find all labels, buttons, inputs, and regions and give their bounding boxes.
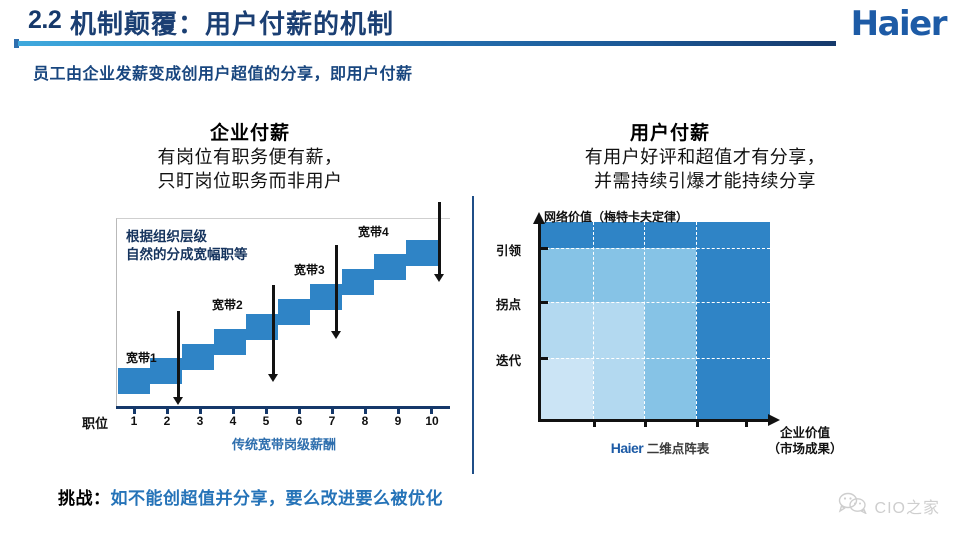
x-tick-label: 3 <box>193 414 207 428</box>
slide-header: 2.2 机制颠覆：用户付薪的机制 Haier <box>0 0 960 52</box>
right-desc-line-2: 并需持续引爆才能持续分享 <box>520 170 890 194</box>
x-tick-label: 6 <box>292 414 306 428</box>
left-chart-note: 根据组织层级 自然的分成宽幅职等 <box>126 228 248 264</box>
x-tick-label: 10 <box>422 414 442 428</box>
left-column-title: 企业付薪 <box>140 118 360 145</box>
x-tick-label: 8 <box>358 414 372 428</box>
slide-subtitle: 员工由企业发薪变成创用户超值的分享，即用户付薪 <box>33 60 413 84</box>
band-separator-line <box>272 285 275 374</box>
page-title: 机制颠覆：用户付薪的机制 <box>70 4 394 41</box>
right-chart-x-axis-title: 企业价值 （市场成果） <box>750 426 860 457</box>
traditional-salary-chart: 根据组织层级 自然的分成宽幅职等 宽带1 宽带2 宽带3 宽带4 1 2 3 4… <box>104 218 450 440</box>
challenge-statement: 挑战：如不能创超值并分享，要么改进要么被优化 <box>58 484 443 509</box>
x-tick-label: 1 <box>127 414 141 428</box>
right-chart-y-axis-title: 网络价值（梅特卡夫定律） <box>544 208 688 225</box>
left-chart-caption: 传统宽带岗级薪酬 <box>174 434 394 453</box>
right-chart-x-axis <box>538 419 770 422</box>
band-separator-line <box>335 245 338 331</box>
haier-matrix-chart: 网络价值（梅特卡夫定律） 企业价值 （市场成果） 引领 拐点 迭代 Haier … <box>500 210 940 460</box>
title-divider-rule <box>18 41 836 46</box>
x-tick-label: 2 <box>160 414 174 428</box>
matrix-gridline-vertical <box>644 222 645 419</box>
band-label: 宽带2 <box>212 296 243 313</box>
y-tick-label: 迭代 <box>496 350 536 369</box>
y-tick <box>541 247 548 250</box>
left-chart-y-axis-label: 职位 <box>82 413 108 432</box>
wechat-icon <box>838 492 868 519</box>
band-separator-arrow <box>434 274 444 282</box>
caption-text: 二维点阵表 <box>647 442 710 456</box>
staircase-step <box>278 299 310 325</box>
staircase-step <box>214 329 246 355</box>
band-separator-arrow <box>331 331 341 339</box>
matrix-cell-lightest <box>541 358 593 419</box>
column-divider <box>472 196 474 474</box>
right-desc-line-1: 有用户好评和超值才有分享， <box>520 146 890 170</box>
band-separator-arrow <box>268 374 278 382</box>
staircase-step <box>406 240 440 266</box>
band-separator-arrow <box>173 397 183 405</box>
watermark-text: CIO之家 <box>875 494 940 518</box>
x-tick <box>745 422 748 427</box>
x-tick <box>644 422 647 427</box>
matrix-gridline-vertical <box>696 222 697 419</box>
y-tick <box>541 357 548 360</box>
right-chart-caption: Haier 二维点阵表 <box>560 438 760 457</box>
matrix-gridline-vertical <box>593 222 594 419</box>
matrix-gridline-horizontal <box>541 302 770 303</box>
band-label: 宽带4 <box>358 223 389 240</box>
right-column-description: 有用户好评和超值才有分享， 并需持续引爆才能持续分享 <box>520 146 890 194</box>
x-tick-label: 9 <box>391 414 405 428</box>
x-tick-label: 4 <box>226 414 240 428</box>
matrix-gridline-horizontal <box>541 248 770 249</box>
matrix-gridline-horizontal <box>541 358 770 359</box>
watermark: CIO之家 <box>838 492 940 519</box>
x-axis-arrow-icon <box>768 414 780 426</box>
right-chart-y-axis <box>538 222 541 422</box>
left-column-description: 有岗位有职务便有薪， 只盯岗位职务而非用户 <box>100 146 400 194</box>
band-separator-line <box>438 202 441 274</box>
y-tick <box>541 301 548 304</box>
staircase-step <box>182 344 214 370</box>
section-number: 2.2 <box>28 6 61 35</box>
caption-brand: Haier <box>611 440 644 456</box>
staircase-step <box>118 368 150 394</box>
left-chart-note-line-1: 根据组织层级 <box>126 228 248 246</box>
challenge-label: 挑战： <box>58 489 111 508</box>
x-tick-label: 7 <box>325 414 339 428</box>
y-tick-label: 引领 <box>496 240 536 259</box>
x-tick-label: 5 <box>259 414 273 428</box>
left-chart-note-line-2: 自然的分成宽幅职等 <box>126 246 248 264</box>
x-tick <box>696 422 699 427</box>
x-axis-title-line-2: （市场成果） <box>750 442 860 458</box>
challenge-text: 如不能创超值并分享，要么改进要么被优化 <box>111 489 444 508</box>
x-axis-title-line-1: 企业价值 <box>750 426 860 442</box>
staircase-step <box>342 269 374 295</box>
left-desc-line-1: 有岗位有职务便有薪， <box>100 146 400 170</box>
band-label: 宽带3 <box>294 261 325 278</box>
band-label: 宽带1 <box>126 349 157 366</box>
band-separator-line <box>177 311 180 397</box>
left-desc-line-2: 只盯岗位职务而非用户 <box>100 170 400 194</box>
right-column-title: 用户付薪 <box>560 118 780 145</box>
y-tick-label: 拐点 <box>496 294 536 313</box>
x-tick <box>593 422 596 427</box>
haier-logo: Haier <box>851 4 946 44</box>
staircase-step <box>374 254 406 280</box>
